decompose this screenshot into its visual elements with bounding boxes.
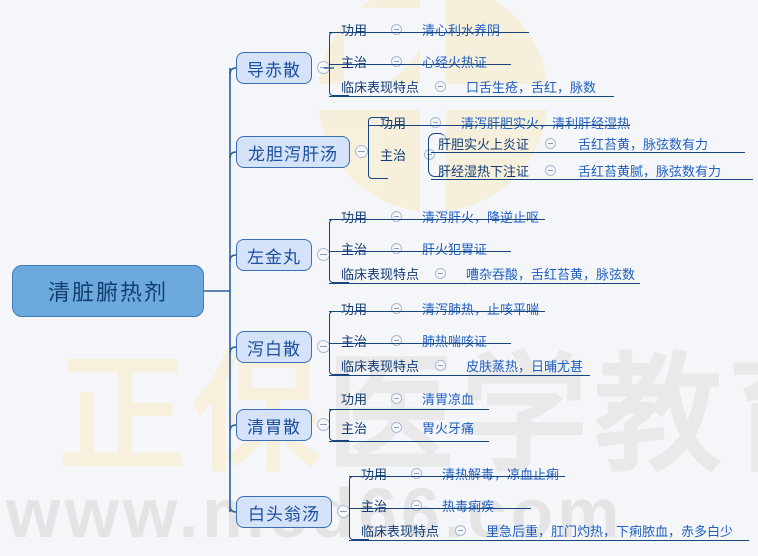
row-value: 清泻肝火，降逆止呕: [422, 207, 539, 226]
row-value: 清泻肝胆实火，清利肝经湿热: [461, 113, 630, 132]
collapse-minus-icon-branch-2[interactable]: [355, 145, 368, 158]
row-value: 胃火牙痛: [422, 418, 474, 437]
row-value: 口舌生疮，舌红，脉数: [466, 77, 596, 96]
underline: [329, 32, 529, 33]
collapse-minus-icon[interactable]: [455, 525, 466, 536]
row-zhuzhi-5[interactable]: 主治 胃火牙痛: [341, 418, 474, 437]
row-label: 临床表现特点: [361, 521, 439, 540]
row-value: 清心利水养阴: [422, 20, 500, 39]
row-linchuang-6[interactable]: 临床表现特点 里急后重，肛门灼热，下痢脓血，赤多白少: [361, 521, 733, 540]
row-label: 功用: [341, 207, 367, 226]
row-label: 主治: [380, 145, 406, 164]
row-value: 心经火热证: [422, 52, 487, 71]
branch-label: 导赤散: [247, 56, 301, 81]
collapse-minus-icon[interactable]: [435, 81, 446, 92]
row-value: 舌红苔黄腻，脉弦数有力: [578, 161, 721, 180]
row-label: 主治: [361, 496, 387, 515]
root-node[interactable]: 清脏腑热剂: [12, 265, 204, 317]
underline: [329, 311, 545, 312]
row-gongyong-3[interactable]: 功用 清泻肝火，降逆止呕: [341, 207, 539, 226]
collapse-minus-icon[interactable]: [391, 24, 402, 35]
row-label: 主治: [341, 331, 367, 350]
row-zhuzhi-4[interactable]: 主治 肺热喘咳证: [341, 331, 487, 350]
row-zhuzhi-2[interactable]: 主治: [380, 145, 435, 164]
underline: [329, 283, 640, 284]
collapse-minus-icon[interactable]: [435, 268, 446, 279]
underline: [349, 476, 565, 477]
row-gongyong-6[interactable]: 功用 清热解毒，凉血止痢: [361, 464, 559, 483]
row-value: 嘈杂吞酸，舌红苔黄，脉弦数: [466, 264, 635, 283]
underline: [329, 219, 545, 220]
underline: [349, 540, 749, 541]
row-label: 临床表现特点: [341, 77, 419, 96]
row-value: 舌红苔黄，脉弦数有力: [578, 134, 708, 153]
row-gongyong-5[interactable]: 功用 清胃凉血: [341, 389, 474, 408]
row-sub-2-2[interactable]: 肝经湿热下注证 舌红苔黄腻，脉弦数有力: [438, 161, 721, 180]
underline: [329, 409, 489, 410]
row-linchuang-3[interactable]: 临床表现特点 嘈杂吞酸，舌红苔黄，脉弦数: [341, 264, 635, 283]
collapse-minus-icon[interactable]: [391, 393, 402, 404]
row-label: 临床表现特点: [341, 356, 419, 375]
underline: [329, 96, 614, 97]
collapse-minus-icon[interactable]: [411, 468, 422, 479]
row-label: 主治: [341, 52, 367, 71]
row-value: 清泻肺热，止咳平喘: [422, 299, 539, 318]
row-linchuang-1[interactable]: 临床表现特点 口舌生疮，舌红，脉数: [341, 77, 596, 96]
row-zhuzhi-1[interactable]: 主治 心经火热证: [341, 52, 487, 71]
row-label: 功用: [361, 464, 387, 483]
row-value: 热毒痢疾: [442, 496, 494, 515]
collapse-minus-icon[interactable]: [391, 422, 402, 433]
branch-node-zuojinwan[interactable]: 左金丸: [236, 239, 312, 271]
row-gongyong-4[interactable]: 功用 清泻肺热，止咳平喘: [341, 299, 539, 318]
underline: [329, 64, 511, 65]
branch-node-baitouwengtang[interactable]: 白头翁汤: [236, 496, 332, 528]
collapse-minus-icon[interactable]: [391, 211, 402, 222]
underline: [329, 251, 511, 252]
collapse-minus-icon[interactable]: [391, 243, 402, 254]
collapse-minus-icon[interactable]: [391, 56, 402, 67]
row-label: 功用: [341, 389, 367, 408]
branch-label: 龙胆泻肝汤: [248, 140, 338, 165]
row-zhuzhi-6[interactable]: 主治 热毒痢疾: [361, 496, 494, 515]
row-label: 临床表现特点: [341, 264, 419, 283]
branch-label: 泻白散: [247, 335, 301, 360]
branch-label: 清胃散: [247, 413, 301, 438]
underline: [368, 125, 630, 126]
branch-node-longdanxiegantang[interactable]: 龙胆泻肝汤: [236, 136, 350, 168]
row-label: 肝胆实火上炎证: [438, 134, 529, 153]
collapse-minus-icon[interactable]: [411, 500, 422, 511]
collapse-minus-icon[interactable]: [391, 335, 402, 346]
branch-node-xiebaisan[interactable]: 泻白散: [236, 331, 312, 363]
row-label: 功用: [380, 113, 406, 132]
row-sub-2-1[interactable]: 肝胆实火上炎证 舌红苔黄，脉弦数有力: [438, 134, 708, 153]
branch-node-qingweisan[interactable]: 清胃散: [236, 409, 312, 441]
row-label: 功用: [341, 299, 367, 318]
row-zhuzhi-3[interactable]: 主治 肝火犯胃证: [341, 239, 487, 258]
row-value: 里急后重，肛门灼热，下痢脓血，赤多白少: [486, 521, 733, 540]
row-value: 清热解毒，凉血止痢: [442, 464, 559, 483]
mindmap-canvas: 正保医学教育网 www.med66.com 清脏腑热剂 导赤散 功用: [0, 0, 758, 556]
underline: [431, 179, 753, 180]
branch-label: 左金丸: [247, 243, 301, 268]
underline: [349, 508, 531, 509]
branch-node-daochisan[interactable]: 导赤散: [236, 52, 312, 84]
underline: [329, 343, 511, 344]
row-label: 主治: [341, 239, 367, 258]
root-node-label: 清脏腑热剂: [48, 275, 168, 307]
row-value: 肝火犯胃证: [422, 239, 487, 258]
row-value: 清胃凉血: [422, 389, 474, 408]
underline: [329, 441, 489, 442]
row-label: 功用: [341, 20, 367, 39]
collapse-minus-icon[interactable]: [430, 117, 441, 128]
row-linchuang-4[interactable]: 临床表现特点 皮肤蒸热，日晡尤甚: [341, 356, 583, 375]
row-label: 肝经湿热下注证: [438, 161, 529, 180]
row-label: 主治: [341, 418, 367, 437]
row-gongyong-2[interactable]: 功用 清泻肝胆实火，清利肝经湿热: [380, 113, 630, 132]
collapse-minus-icon[interactable]: [435, 360, 446, 371]
collapse-minus-icon[interactable]: [545, 138, 556, 149]
collapse-minus-icon[interactable]: [545, 165, 556, 176]
underline: [329, 375, 590, 376]
row-gongyong-1[interactable]: 功用 清心利水养阴: [341, 20, 500, 39]
collapse-minus-icon[interactable]: [391, 303, 402, 314]
branch-label: 白头翁汤: [248, 500, 320, 525]
row-value: 肺热喘咳证: [422, 331, 487, 350]
underline: [431, 152, 745, 153]
row-value: 皮肤蒸热，日晡尤甚: [466, 356, 583, 375]
